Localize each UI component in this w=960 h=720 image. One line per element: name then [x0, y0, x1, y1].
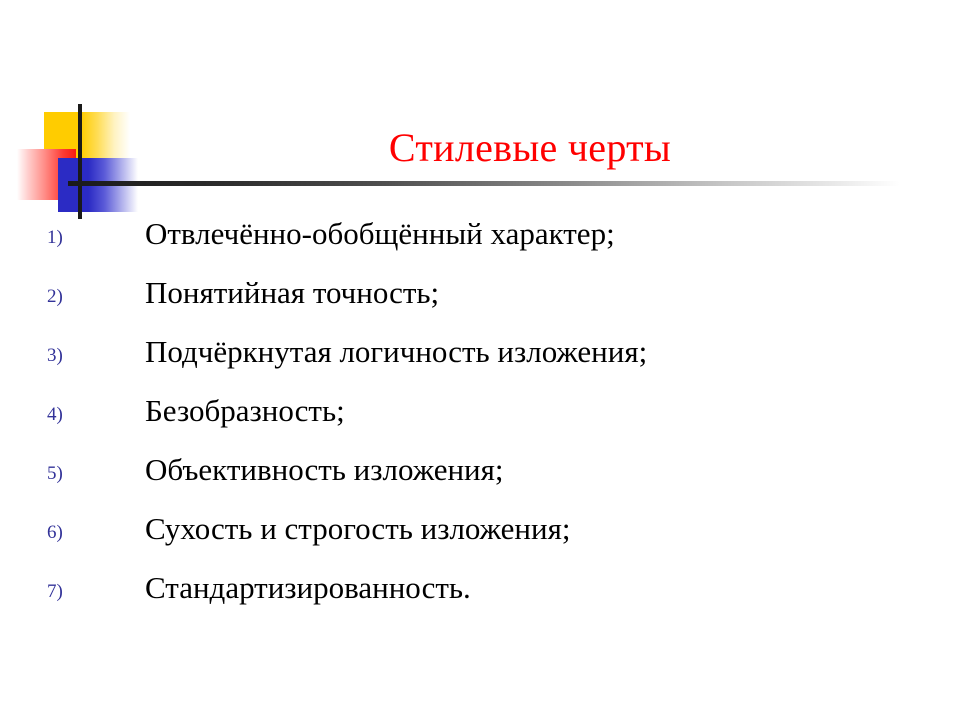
list-item-text: Объективность изложения; [145, 452, 504, 489]
list-item-number: 5) [47, 464, 87, 483]
list-item: 6) Сухость и строгость изложения; [0, 511, 960, 570]
list-item: 4) Безобразность; [0, 393, 960, 452]
list-item-number: 3) [47, 346, 87, 365]
list-item: 5) Объективность изложения; [0, 452, 960, 511]
yellow-block-shape [44, 112, 130, 159]
list-item-text: Отвлечённо-обобщённый характер; [145, 216, 615, 253]
list-item-number: 1) [47, 228, 87, 247]
numbered-list: 1) Отвлечённо-обобщённый характер; 2) По… [0, 216, 960, 629]
list-item-number: 7) [47, 582, 87, 601]
list-item-text: Безобразность; [145, 393, 345, 430]
list-item-text: Стандартизированность. [145, 570, 471, 607]
list-item: 7) Стандартизированность. [0, 570, 960, 629]
list-item-number: 2) [47, 287, 87, 306]
list-item: 2) Понятийная точность; [0, 275, 960, 334]
vertical-rule-line [78, 104, 82, 219]
slide-canvas: Стилевые черты 1) Отвлечённо-обобщённый … [0, 0, 960, 720]
list-item-number: 4) [47, 405, 87, 424]
list-item: 3) Подчёркнутая логичность изложения; [0, 334, 960, 393]
slide-title: Стилевые черты [145, 127, 915, 169]
list-item-number: 6) [47, 523, 87, 542]
horizontal-divider-line [68, 181, 900, 186]
list-item-text: Подчёркнутая логичность изложения; [145, 334, 647, 371]
list-item-text: Сухость и строгость изложения; [145, 511, 570, 548]
red-block-shape [17, 149, 76, 200]
list-item: 1) Отвлечённо-обобщённый характер; [0, 216, 960, 275]
decorative-corner-graphic [0, 0, 200, 240]
list-item-text: Понятийная точность; [145, 275, 439, 312]
